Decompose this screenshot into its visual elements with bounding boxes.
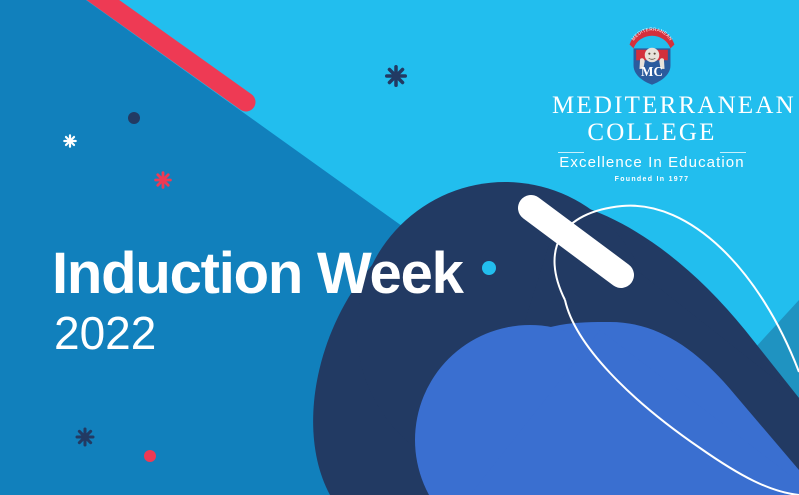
induction-week-banner: Induction Week 2022 MEDITERRANEAN (0, 0, 799, 495)
mediterranean-college-logo: MEDITERRANEAN MC MEDITERRANEAN COLLEGE E… (552, 22, 752, 183)
page-title: Induction Week (52, 243, 512, 305)
title-block: Induction Week 2022 (52, 243, 512, 359)
college-crest-icon: MEDITERRANEAN MC (619, 22, 685, 88)
red-dot-bottom (144, 450, 156, 462)
logo-name-line-1: MEDITERRANEAN (552, 93, 752, 119)
navy-dot-top-left (128, 112, 140, 124)
logo-divider-left (558, 152, 584, 153)
svg-text:MC: MC (641, 64, 663, 79)
logo-name-line-2: COLLEGE (552, 120, 752, 146)
logo-tagline: Excellence In Education (552, 154, 752, 171)
logo-founded-text: Founded In 1977 (552, 176, 752, 183)
logo-divider (552, 148, 752, 156)
logo-divider-right (720, 152, 746, 153)
page-title-year: 2022 (54, 307, 512, 359)
